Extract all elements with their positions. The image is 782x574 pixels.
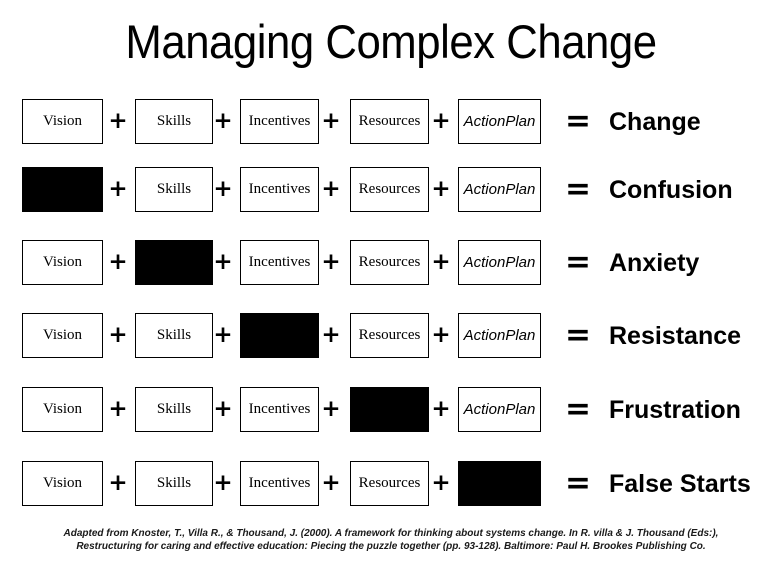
- plus-icon: +: [320, 387, 342, 432]
- cell-action-plan[interactable]: Action Plan: [458, 387, 541, 432]
- result-label: False Starts: [609, 461, 751, 506]
- plus-icon: +: [430, 167, 452, 212]
- matrix-row: Vision + Skills + Incentives + + Action …: [0, 387, 782, 435]
- cell-skills[interactable]: Skills: [135, 387, 213, 432]
- cell-vision[interactable]: Vision: [22, 461, 103, 506]
- result-label: Frustration: [609, 387, 741, 432]
- page-title: Managing Complex Change: [27, 14, 754, 70]
- plus-icon: +: [430, 99, 452, 144]
- cell-action-plan[interactable]: Action Plan: [458, 167, 541, 212]
- cell-incentives[interactable]: Incentives: [240, 99, 319, 144]
- equals-icon: =: [561, 387, 595, 432]
- equals-icon: =: [561, 461, 595, 506]
- equals-icon: =: [561, 313, 595, 358]
- cell-incentives[interactable]: Incentives: [240, 461, 319, 506]
- matrix-row: Vision + + Incentives + Resources + Acti…: [0, 240, 782, 288]
- plus-icon: +: [107, 167, 129, 212]
- action-plan-line-2: Plan: [505, 113, 535, 131]
- action-plan-line-1: Action: [464, 327, 506, 345]
- action-plan-line-1: Action: [464, 401, 506, 419]
- equals-icon: =: [561, 99, 595, 144]
- matrix-row: Vision + Skills + Incentives + Resources…: [0, 461, 782, 509]
- result-label: Confusion: [609, 167, 733, 212]
- plus-icon: +: [320, 461, 342, 506]
- result-label: Anxiety: [609, 240, 699, 285]
- cell-incentives[interactable]: Incentives: [240, 167, 319, 212]
- cell-action-plan-redacted[interactable]: [458, 461, 541, 506]
- cell-vision[interactable]: Vision: [22, 99, 103, 144]
- plus-icon: +: [212, 461, 234, 506]
- cell-vision[interactable]: Vision: [22, 240, 103, 285]
- plus-icon: +: [212, 240, 234, 285]
- cell-action-plan[interactable]: Action Plan: [458, 313, 541, 358]
- cell-action-plan[interactable]: Action Plan: [458, 240, 541, 285]
- cell-resources[interactable]: Resources: [350, 240, 429, 285]
- plus-icon: +: [107, 387, 129, 432]
- plus-icon: +: [212, 313, 234, 358]
- plus-icon: +: [320, 167, 342, 212]
- plus-icon: +: [430, 240, 452, 285]
- equals-icon: =: [561, 167, 595, 212]
- plus-icon: +: [107, 313, 129, 358]
- citation-line-1: Adapted from Knoster, T., Villa R., & Th…: [0, 527, 782, 540]
- plus-icon: +: [430, 313, 452, 358]
- cell-skills-redacted[interactable]: [135, 240, 213, 285]
- cell-skills[interactable]: Skills: [135, 99, 213, 144]
- cell-resources[interactable]: Resources: [350, 313, 429, 358]
- plus-icon: +: [320, 99, 342, 144]
- plus-icon: +: [107, 99, 129, 144]
- plus-icon: +: [320, 313, 342, 358]
- cell-skills[interactable]: Skills: [135, 313, 213, 358]
- cell-skills[interactable]: Skills: [135, 167, 213, 212]
- matrix-row: + Skills + Incentives + Resources + Acti…: [0, 167, 782, 215]
- action-plan-line-2: Plan: [505, 254, 535, 272]
- cell-vision[interactable]: Vision: [22, 313, 103, 358]
- plus-icon: +: [212, 99, 234, 144]
- result-label: Change: [609, 99, 701, 144]
- action-plan-line-2: Plan: [505, 401, 535, 419]
- action-plan-line-1: Action: [464, 113, 506, 131]
- cell-resources[interactable]: Resources: [350, 167, 429, 212]
- plus-icon: +: [212, 167, 234, 212]
- plus-icon: +: [320, 240, 342, 285]
- plus-icon: +: [107, 240, 129, 285]
- cell-skills[interactable]: Skills: [135, 461, 213, 506]
- matrix-row: Vision + Skills + Incentives + Resources…: [0, 99, 782, 147]
- action-plan-line-2: Plan: [505, 327, 535, 345]
- equals-icon: =: [561, 240, 595, 285]
- result-label: Resistance: [609, 313, 741, 358]
- plus-icon: +: [430, 461, 452, 506]
- citation-footer: Adapted from Knoster, T., Villa R., & Th…: [0, 527, 782, 553]
- matrix-row: Vision + Skills + + Resources + Action P…: [0, 313, 782, 361]
- plus-icon: +: [107, 461, 129, 506]
- action-plan-line-2: Plan: [505, 181, 535, 199]
- plus-icon: +: [430, 387, 452, 432]
- cell-resources[interactable]: Resources: [350, 461, 429, 506]
- cell-resources[interactable]: Resources: [350, 99, 429, 144]
- managing-complex-change-diagram: Managing Complex Change Vision + Skills …: [0, 0, 782, 574]
- action-plan-line-1: Action: [464, 254, 506, 272]
- cell-action-plan[interactable]: Action Plan: [458, 99, 541, 144]
- action-plan-line-1: Action: [464, 181, 506, 199]
- cell-vision-redacted[interactable]: [22, 167, 103, 212]
- cell-incentives-redacted[interactable]: [240, 313, 319, 358]
- cell-vision[interactable]: Vision: [22, 387, 103, 432]
- cell-resources-redacted[interactable]: [350, 387, 429, 432]
- citation-line-2: Restructuring for caring and effective e…: [0, 540, 782, 553]
- cell-incentives[interactable]: Incentives: [240, 387, 319, 432]
- plus-icon: +: [212, 387, 234, 432]
- cell-incentives[interactable]: Incentives: [240, 240, 319, 285]
